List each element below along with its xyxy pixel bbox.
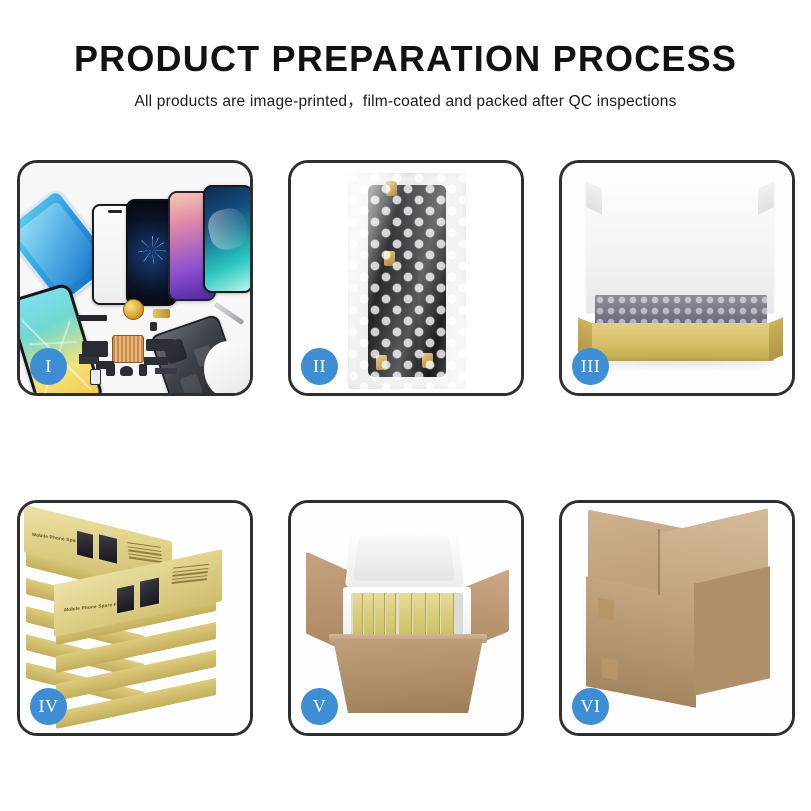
process-step-panel-4[interactable]: Mobile Phone Spare Parts Mobile Phone Sp…	[17, 500, 253, 736]
carton-body	[333, 639, 483, 713]
small-part-c	[139, 364, 147, 376]
carton-side-face	[694, 566, 770, 696]
teal-gradient-phone	[203, 185, 250, 293]
flex-cable-part-right	[146, 339, 174, 351]
box-artwork-front-b	[139, 576, 160, 608]
kraft-box-slot-8	[441, 593, 454, 637]
product-preparation-infographic: PRODUCT PREPARATION PROCESS All products…	[0, 0, 811, 811]
plastic-sheen	[348, 173, 466, 389]
process-step-grid: I II	[17, 160, 795, 736]
process-step-panel-3[interactable]: III	[559, 160, 795, 396]
kraft-box-slot-6	[413, 593, 426, 637]
kraft-box-slot-2	[364, 593, 374, 637]
box-shadow	[582, 359, 778, 366]
carton-top-seam	[658, 529, 660, 595]
box-artwork-rear-b	[98, 533, 118, 565]
step-badge-1: I	[30, 348, 67, 385]
foam-cavity	[351, 593, 463, 637]
process-step-panel-1[interactable]: I	[17, 160, 253, 396]
process-step-panel-5[interactable]: V	[288, 500, 524, 736]
logic-board-chip	[112, 335, 144, 363]
step-badge-6: VI	[572, 688, 609, 725]
earpiece-speaker-part	[77, 315, 107, 321]
page-title: PRODUCT PREPARATION PROCESS	[0, 40, 811, 78]
box-artwork-rear-a	[76, 530, 94, 560]
kraft-box-slot-7	[427, 593, 440, 637]
gold-connector-part	[153, 309, 170, 318]
small-part-a	[106, 363, 115, 376]
hand-holding-tool	[204, 341, 250, 393]
bubble-wrap-bag	[348, 173, 466, 389]
step-badge-2: II	[301, 348, 338, 385]
header: PRODUCT PREPARATION PROCESS All products…	[0, 0, 811, 111]
carton-tape-lower	[602, 657, 618, 680]
step-badge-5: V	[301, 688, 338, 725]
gold-component-icon	[123, 299, 144, 320]
step-badge-4: IV	[30, 688, 67, 725]
process-step-panel-6[interactable]: VI	[559, 500, 795, 736]
kraft-box-slot-5	[399, 593, 412, 637]
box-artwork-front-a	[116, 584, 135, 615]
small-part-b	[120, 366, 133, 376]
kraft-box-slot-3	[375, 593, 385, 637]
page-subtitle: All products are image-printed，film-coat…	[0, 89, 811, 111]
white-box-lid	[586, 181, 774, 313]
small-part-e	[150, 322, 157, 331]
flex-cable-part-left	[82, 341, 108, 357]
carton-tape-upper	[598, 597, 614, 620]
process-step-panel-2[interactable]: II	[288, 160, 524, 396]
carton-front-face	[586, 576, 696, 707]
kraft-box-slot-4	[386, 593, 396, 637]
kraft-box-tray	[587, 323, 774, 361]
step-badge-3: III	[572, 348, 609, 385]
small-part-d	[90, 369, 101, 385]
foam-lid	[344, 530, 463, 588]
kraft-box-slot-1	[353, 593, 363, 637]
